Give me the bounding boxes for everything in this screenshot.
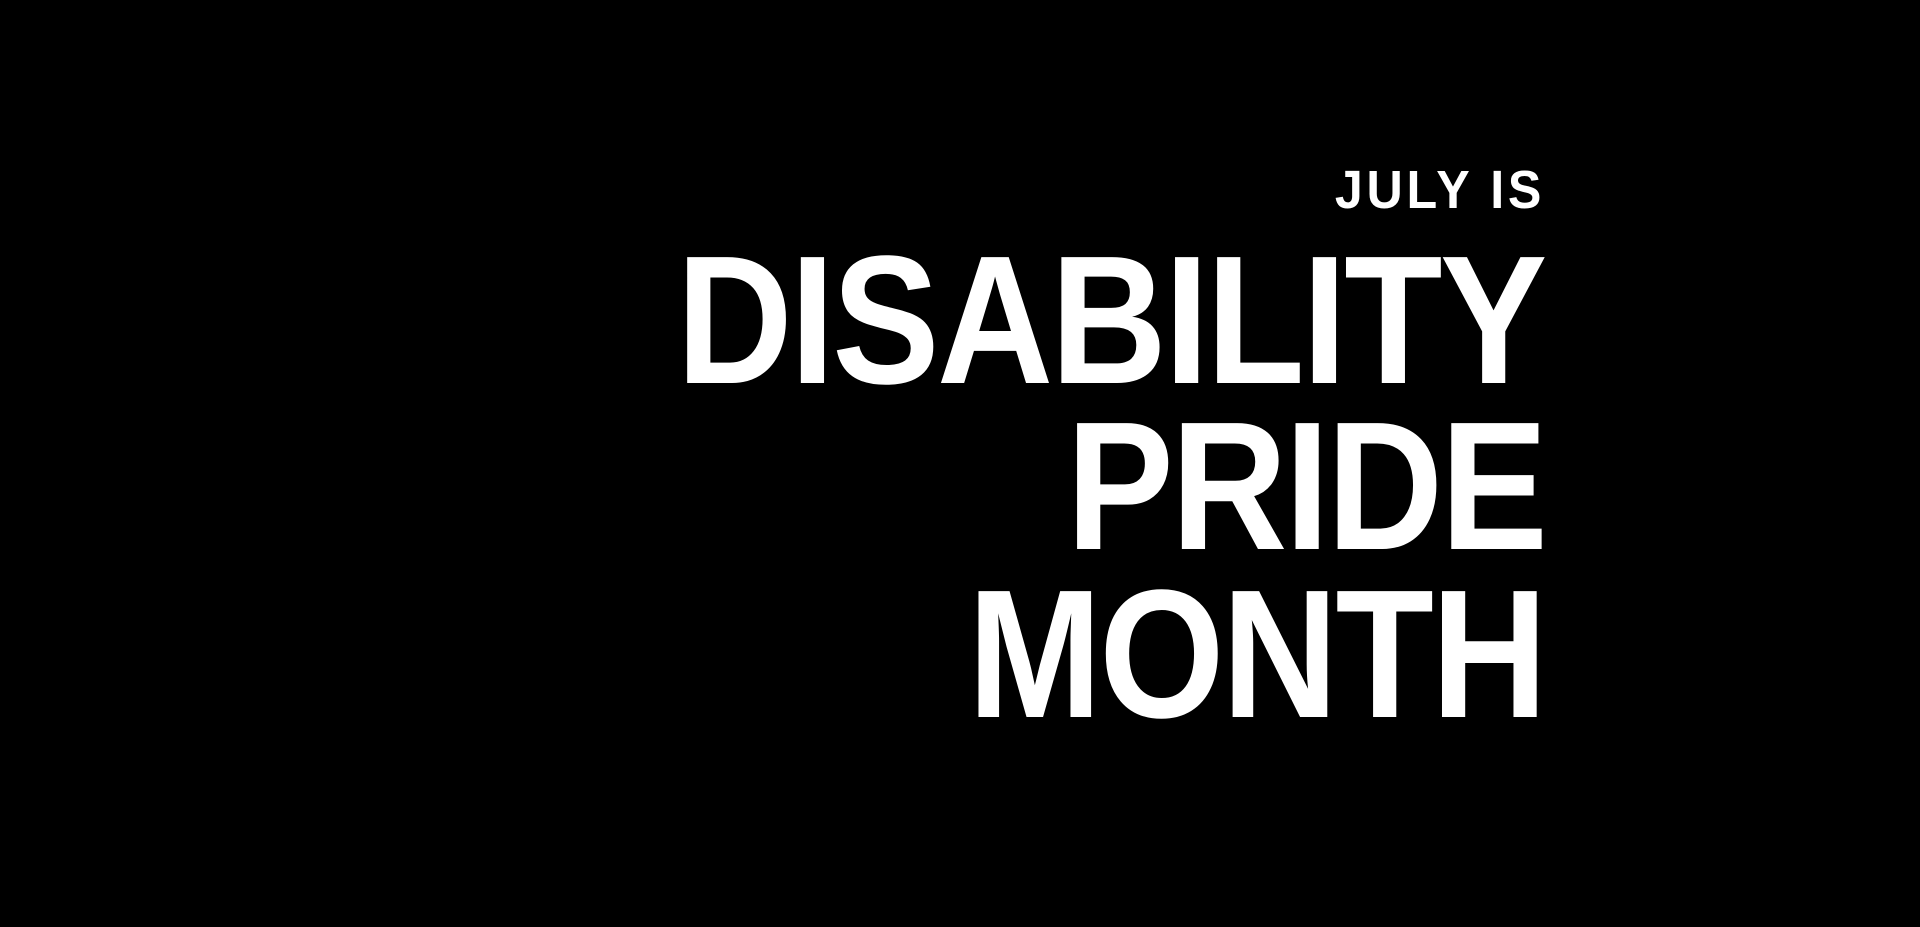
- headline-line-disability: DISABILITY: [677, 228, 1545, 411]
- disability-pride-month-banner: JULY IS DISABILITY PRIDE MONTH: [0, 0, 1920, 927]
- pride-flag-stripes: [0, 0, 1920, 927]
- headline-line-pride: PRIDE: [1066, 394, 1545, 577]
- blue-stripe: [0, 231, 1285, 927]
- headline-text-block: JULY IS DISABILITY PRIDE MONTH: [0, 0, 1920, 927]
- yellow-stripe: [0, 489, 1285, 927]
- headline-line-month: MONTH: [968, 562, 1545, 745]
- eyebrow-text: JULY IS: [1335, 163, 1545, 217]
- white-stripe: [0, 368, 1285, 927]
- red-stripe: [0, 619, 1285, 927]
- green-stripe: [0, 95, 1285, 927]
